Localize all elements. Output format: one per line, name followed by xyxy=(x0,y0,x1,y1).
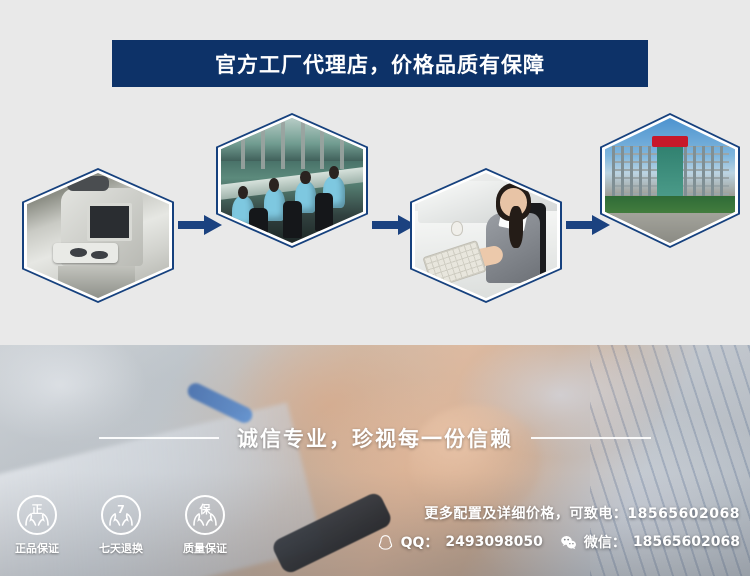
image-factory-assembly-line xyxy=(221,118,363,243)
flow-step-medical-equipment[interactable] xyxy=(22,168,174,303)
image-company-building xyxy=(605,118,735,243)
hands-icon xyxy=(24,513,50,526)
image-customer-service xyxy=(415,173,557,298)
header-banner: 官方工厂代理店，价格品质有保障 xyxy=(112,40,648,87)
badge-seven-day-return[interactable]: 7 七天退换 xyxy=(92,495,150,556)
contact-qq-label: QQ： xyxy=(401,532,439,552)
flow-step-factory-assembly-line[interactable] xyxy=(216,113,368,248)
wechat-icon[interactable] xyxy=(560,534,577,551)
tagline-rule-right xyxy=(531,437,651,439)
badge-quality-icon: 保 xyxy=(185,495,225,535)
trust-badges: 正 正品保证 7 七天退换 保 xyxy=(8,495,234,556)
contact-phone-number: 18565602068 xyxy=(627,506,740,522)
bottom-section: 诚信专业，珍视每一份信赖 正 正品保证 7 七天退换 xyxy=(0,345,750,576)
contact-phone-prefix: 更多配置及详细价格，可致电： xyxy=(424,506,627,522)
contact-block: 更多配置及详细价格，可致电：18565602068 QQ：2493098050 xyxy=(320,503,740,552)
badge-quality-label: 质量保证 xyxy=(183,540,227,556)
tagline-rule-left xyxy=(99,437,219,439)
badge-seven-day-return-icon: 7 xyxy=(101,495,141,535)
hands-icon xyxy=(192,513,218,526)
tagline: 诚信专业，珍视每一份信赖 xyxy=(0,423,750,453)
contact-wechat-label: 微信： xyxy=(584,532,626,552)
hands-icon xyxy=(108,513,134,526)
flow-step-company-building[interactable] xyxy=(600,113,740,248)
contact-wechat-number: 18565602068 xyxy=(633,534,740,550)
contact-im-row: QQ：2493098050 微信：18565602068 xyxy=(320,532,740,552)
badge-authentic[interactable]: 正 正品保证 xyxy=(8,495,66,556)
flow-step-customer-service[interactable] xyxy=(410,168,562,303)
top-section: 官方工厂代理店，价格品质有保障 xyxy=(0,0,750,345)
badge-quality[interactable]: 保 质量保证 xyxy=(176,495,234,556)
banner-title: 官方工厂代理店，价格品质有保障 xyxy=(215,49,545,79)
badge-authentic-icon: 正 xyxy=(17,495,57,535)
badge-authentic-label: 正品保证 xyxy=(15,540,59,556)
badge-seven-day-return-label: 七天退换 xyxy=(99,540,143,556)
qq-penguin-icon[interactable] xyxy=(377,534,394,551)
contact-qq-number: 2493098050 xyxy=(445,534,542,550)
process-flow xyxy=(0,95,750,335)
contact-phone-row: 更多配置及详细价格，可致电：18565602068 xyxy=(320,503,740,523)
tagline-text: 诚信专业，珍视每一份信赖 xyxy=(237,423,513,453)
image-medical-equipment xyxy=(27,173,169,298)
